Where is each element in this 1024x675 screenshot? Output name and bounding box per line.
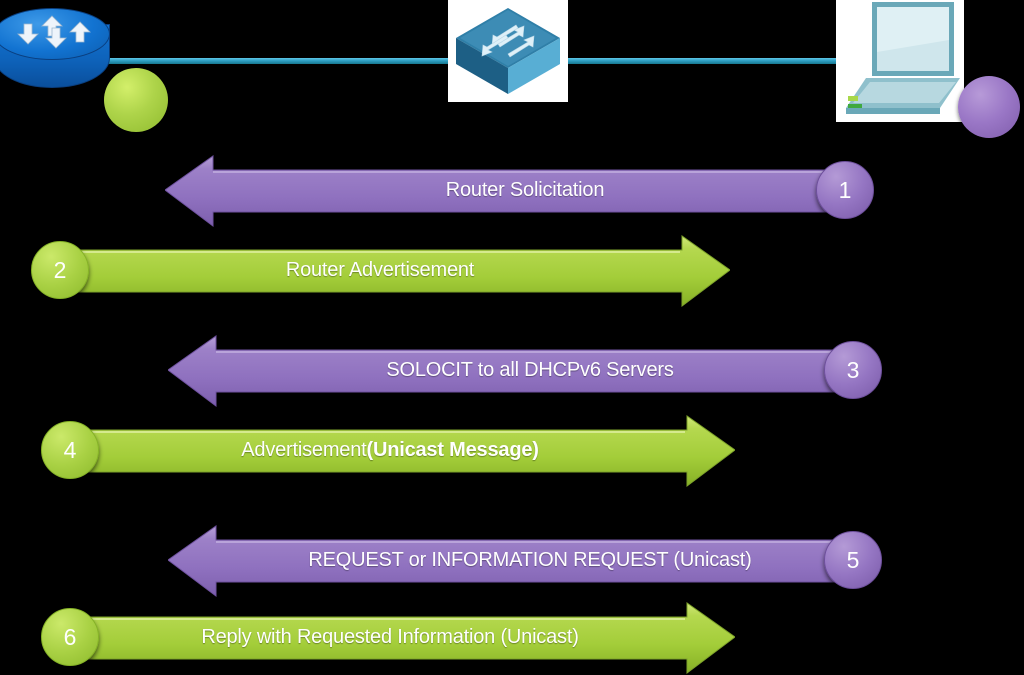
step-badge-4: 4 [41,421,99,479]
arrow-right-green [70,410,735,490]
message-row-2: Router Advertisement 2 [0,230,1024,310]
step-badge-1: 1 [816,161,874,219]
step-badge-3: 3 [824,341,882,399]
step-badge-6: 6 [41,608,99,666]
router-endpoint-dot [104,68,168,132]
step-badge-5: 5 [824,531,882,589]
host-endpoint-dot [958,76,1020,138]
router-icon [0,8,110,104]
diagram-canvas: Router Solicitation 1 Ro [0,0,1024,675]
message-row-1: Router Solicitation 1 [0,150,1024,230]
message-row-4: Advertisement (Unicast Message) 4 [0,410,1024,490]
step-badge-2: 2 [31,241,89,299]
message-row-3: SOLOCIT to all DHCPv6 Servers 3 [0,330,1024,410]
arrow-right-green [70,597,735,675]
arrow-left-purple [165,150,845,230]
switch-icon [448,0,568,102]
message-row-6: Reply with Requested Information (Unicas… [0,597,1024,675]
arrow-left-purple [168,520,858,600]
laptop-icon [836,0,964,122]
message-row-5: REQUEST or INFORMATION REQUEST (Unicast)… [0,520,1024,600]
arrow-left-purple [168,330,858,410]
arrow-right-green [60,230,730,310]
